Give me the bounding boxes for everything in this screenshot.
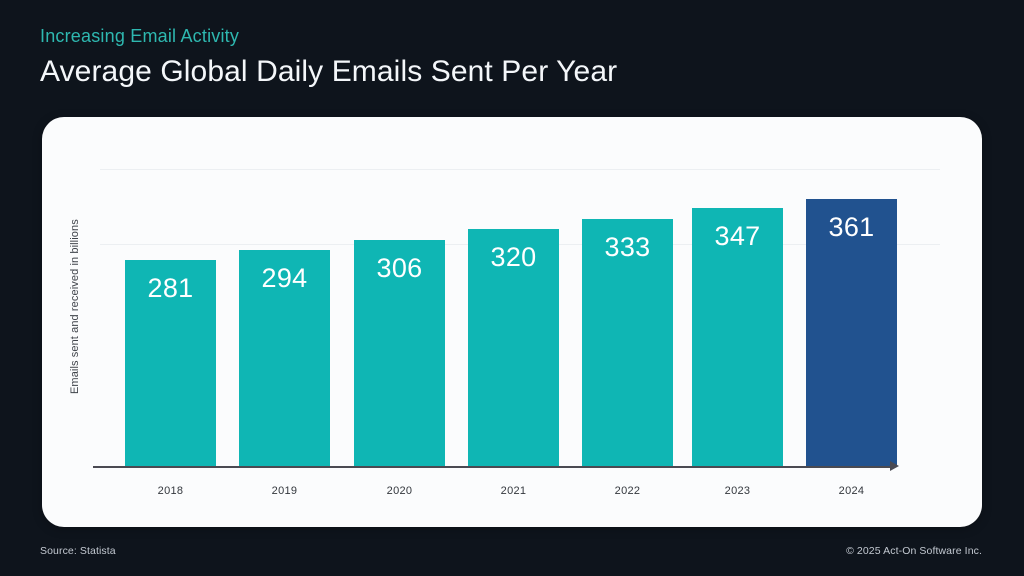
bar-value-2024: 361 <box>806 212 897 243</box>
x-tick-2021: 2021 <box>468 485 559 497</box>
header: Increasing Email Activity Average Global… <box>40 24 940 91</box>
bar-2022[interactable]: 333 <box>582 219 673 467</box>
chart-card: Emails sent and received in billions 281… <box>42 117 982 527</box>
x-axis-arrow-icon <box>890 461 899 471</box>
bar-value-2021: 320 <box>468 242 559 273</box>
x-tick-2024: 2024 <box>806 485 897 497</box>
footer: Source: Statista © 2025 Act-On Software … <box>0 542 1024 566</box>
x-tick-2022: 2022 <box>582 485 673 497</box>
bar-2024[interactable]: 361 <box>806 199 897 467</box>
source-label: Source: Statista <box>40 545 116 557</box>
bar-value-2019: 294 <box>239 263 330 294</box>
bar-2019[interactable]: 294 <box>239 250 330 467</box>
x-tick-2018: 2018 <box>125 485 216 497</box>
eyebrow-text: Increasing Email Activity <box>40 24 940 48</box>
bar-2023[interactable]: 347 <box>692 208 783 467</box>
x-tick-2020: 2020 <box>354 485 445 497</box>
copyright-label: © 2025 Act-On Software Inc. <box>846 545 982 557</box>
bar-value-2020: 306 <box>354 253 445 284</box>
bar-value-2022: 333 <box>582 232 673 263</box>
page-title: Average Global Daily Emails Sent Per Yea… <box>40 52 940 91</box>
x-tick-2019: 2019 <box>239 485 330 497</box>
bar-chart: Emails sent and received in billions 281… <box>42 117 982 527</box>
bars-group: 281 294 306 320 333 347 361 <box>42 117 982 467</box>
bar-2020[interactable]: 306 <box>354 240 445 467</box>
x-axis-line <box>93 466 893 468</box>
x-tick-2023: 2023 <box>692 485 783 497</box>
bar-value-2018: 281 <box>125 273 216 304</box>
bar-value-2023: 347 <box>692 221 783 252</box>
bar-2021[interactable]: 320 <box>468 229 559 467</box>
bar-2018[interactable]: 281 <box>125 260 216 467</box>
